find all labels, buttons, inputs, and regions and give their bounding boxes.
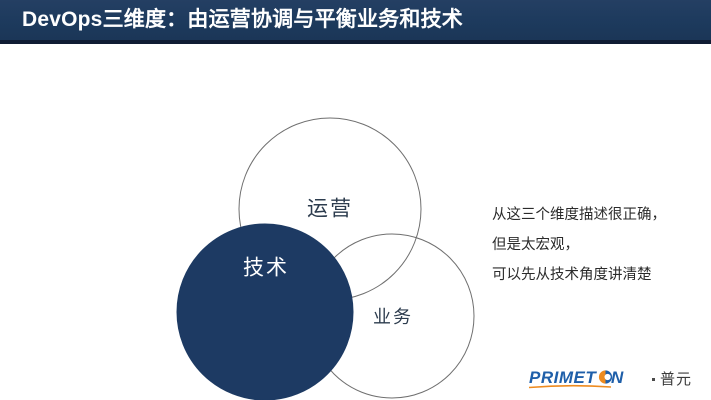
annotation-line-3: 可以先从技术角度讲清楚 xyxy=(492,260,707,290)
slide: DevOps三维度：由运营协调与平衡业务和技术 运营 业务 技术 从这三个维度描… xyxy=(0,0,711,400)
logo-separator-dot xyxy=(652,378,655,381)
annotation-line-1: 从这三个维度描述很正确， xyxy=(492,200,707,230)
logo-chinese-name: 普元 xyxy=(660,372,692,387)
annotation-line-2: 但是太宏观， xyxy=(492,230,707,260)
annotation-text: 从这三个维度描述很正确， 但是太宏观， 可以先从技术角度讲清楚 xyxy=(492,200,707,290)
circle-technology xyxy=(177,224,353,400)
svg-text:PRIMET: PRIMET xyxy=(529,368,597,387)
logo-o-inner xyxy=(605,374,611,380)
primeton-logo: PRIMET N 普元 xyxy=(527,366,692,392)
page-title: DevOps三维度：由运营协调与平衡业务和技术 xyxy=(22,7,463,33)
svg-text:N: N xyxy=(611,368,624,387)
primeton-wordmark-icon: PRIMET N xyxy=(527,366,645,392)
